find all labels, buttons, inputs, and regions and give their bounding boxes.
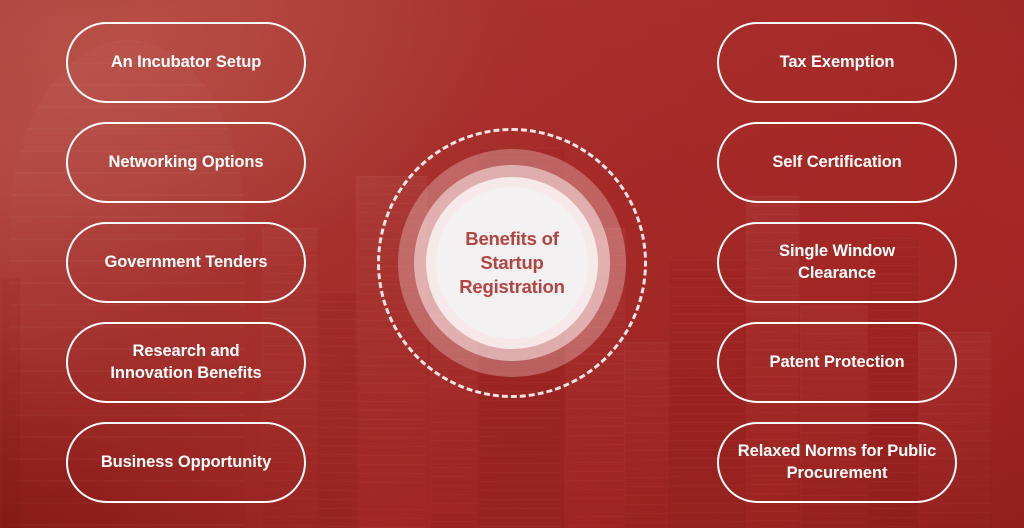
benefit-pill-incubator-setup[interactable]: An Incubator Setup	[66, 22, 306, 103]
benefit-pill-label: Tax Exemption	[780, 52, 895, 73]
benefit-pill-patent-protection[interactable]: Patent Protection	[717, 322, 957, 403]
benefit-pill-business-opportunity[interactable]: Business Opportunity	[66, 422, 306, 503]
benefit-pill-relaxed-norms-public-procurement[interactable]: Relaxed Norms for Public Procurement	[717, 422, 957, 503]
benefit-pill-label: Single Window Clearance	[779, 241, 895, 283]
left-benefits-column: An Incubator Setup Networking Options Go…	[66, 22, 306, 503]
center-title: Benefits of Startup Registration	[436, 227, 588, 299]
benefit-pill-networking-options[interactable]: Networking Options	[66, 122, 306, 203]
benefit-pill-label: Relaxed Norms for Public Procurement	[738, 441, 936, 483]
benefit-pill-label: Research and Innovation Benefits	[110, 341, 261, 383]
benefit-pill-self-certification[interactable]: Self Certification	[717, 122, 957, 203]
center-disc: Benefits of Startup Registration	[436, 187, 588, 339]
benefit-pill-label: Business Opportunity	[101, 452, 271, 473]
benefit-pill-label: Government Tenders	[105, 252, 268, 273]
center-emblem: Benefits of Startup Registration	[378, 129, 646, 397]
benefit-pill-research-innovation-benefits[interactable]: Research and Innovation Benefits	[66, 322, 306, 403]
benefit-pill-single-window-clearance[interactable]: Single Window Clearance	[717, 222, 957, 303]
benefit-pill-label: Patent Protection	[770, 352, 905, 373]
benefit-pill-label: Networking Options	[109, 152, 264, 173]
startup-registration-benefits-infographic: An Incubator Setup Networking Options Go…	[0, 0, 1024, 528]
benefit-pill-government-tenders[interactable]: Government Tenders	[66, 222, 306, 303]
benefit-pill-label: An Incubator Setup	[111, 52, 261, 73]
right-benefits-column: Tax Exemption Self Certification Single …	[717, 22, 957, 503]
benefit-pill-tax-exemption[interactable]: Tax Exemption	[717, 22, 957, 103]
benefit-pill-label: Self Certification	[772, 152, 901, 173]
